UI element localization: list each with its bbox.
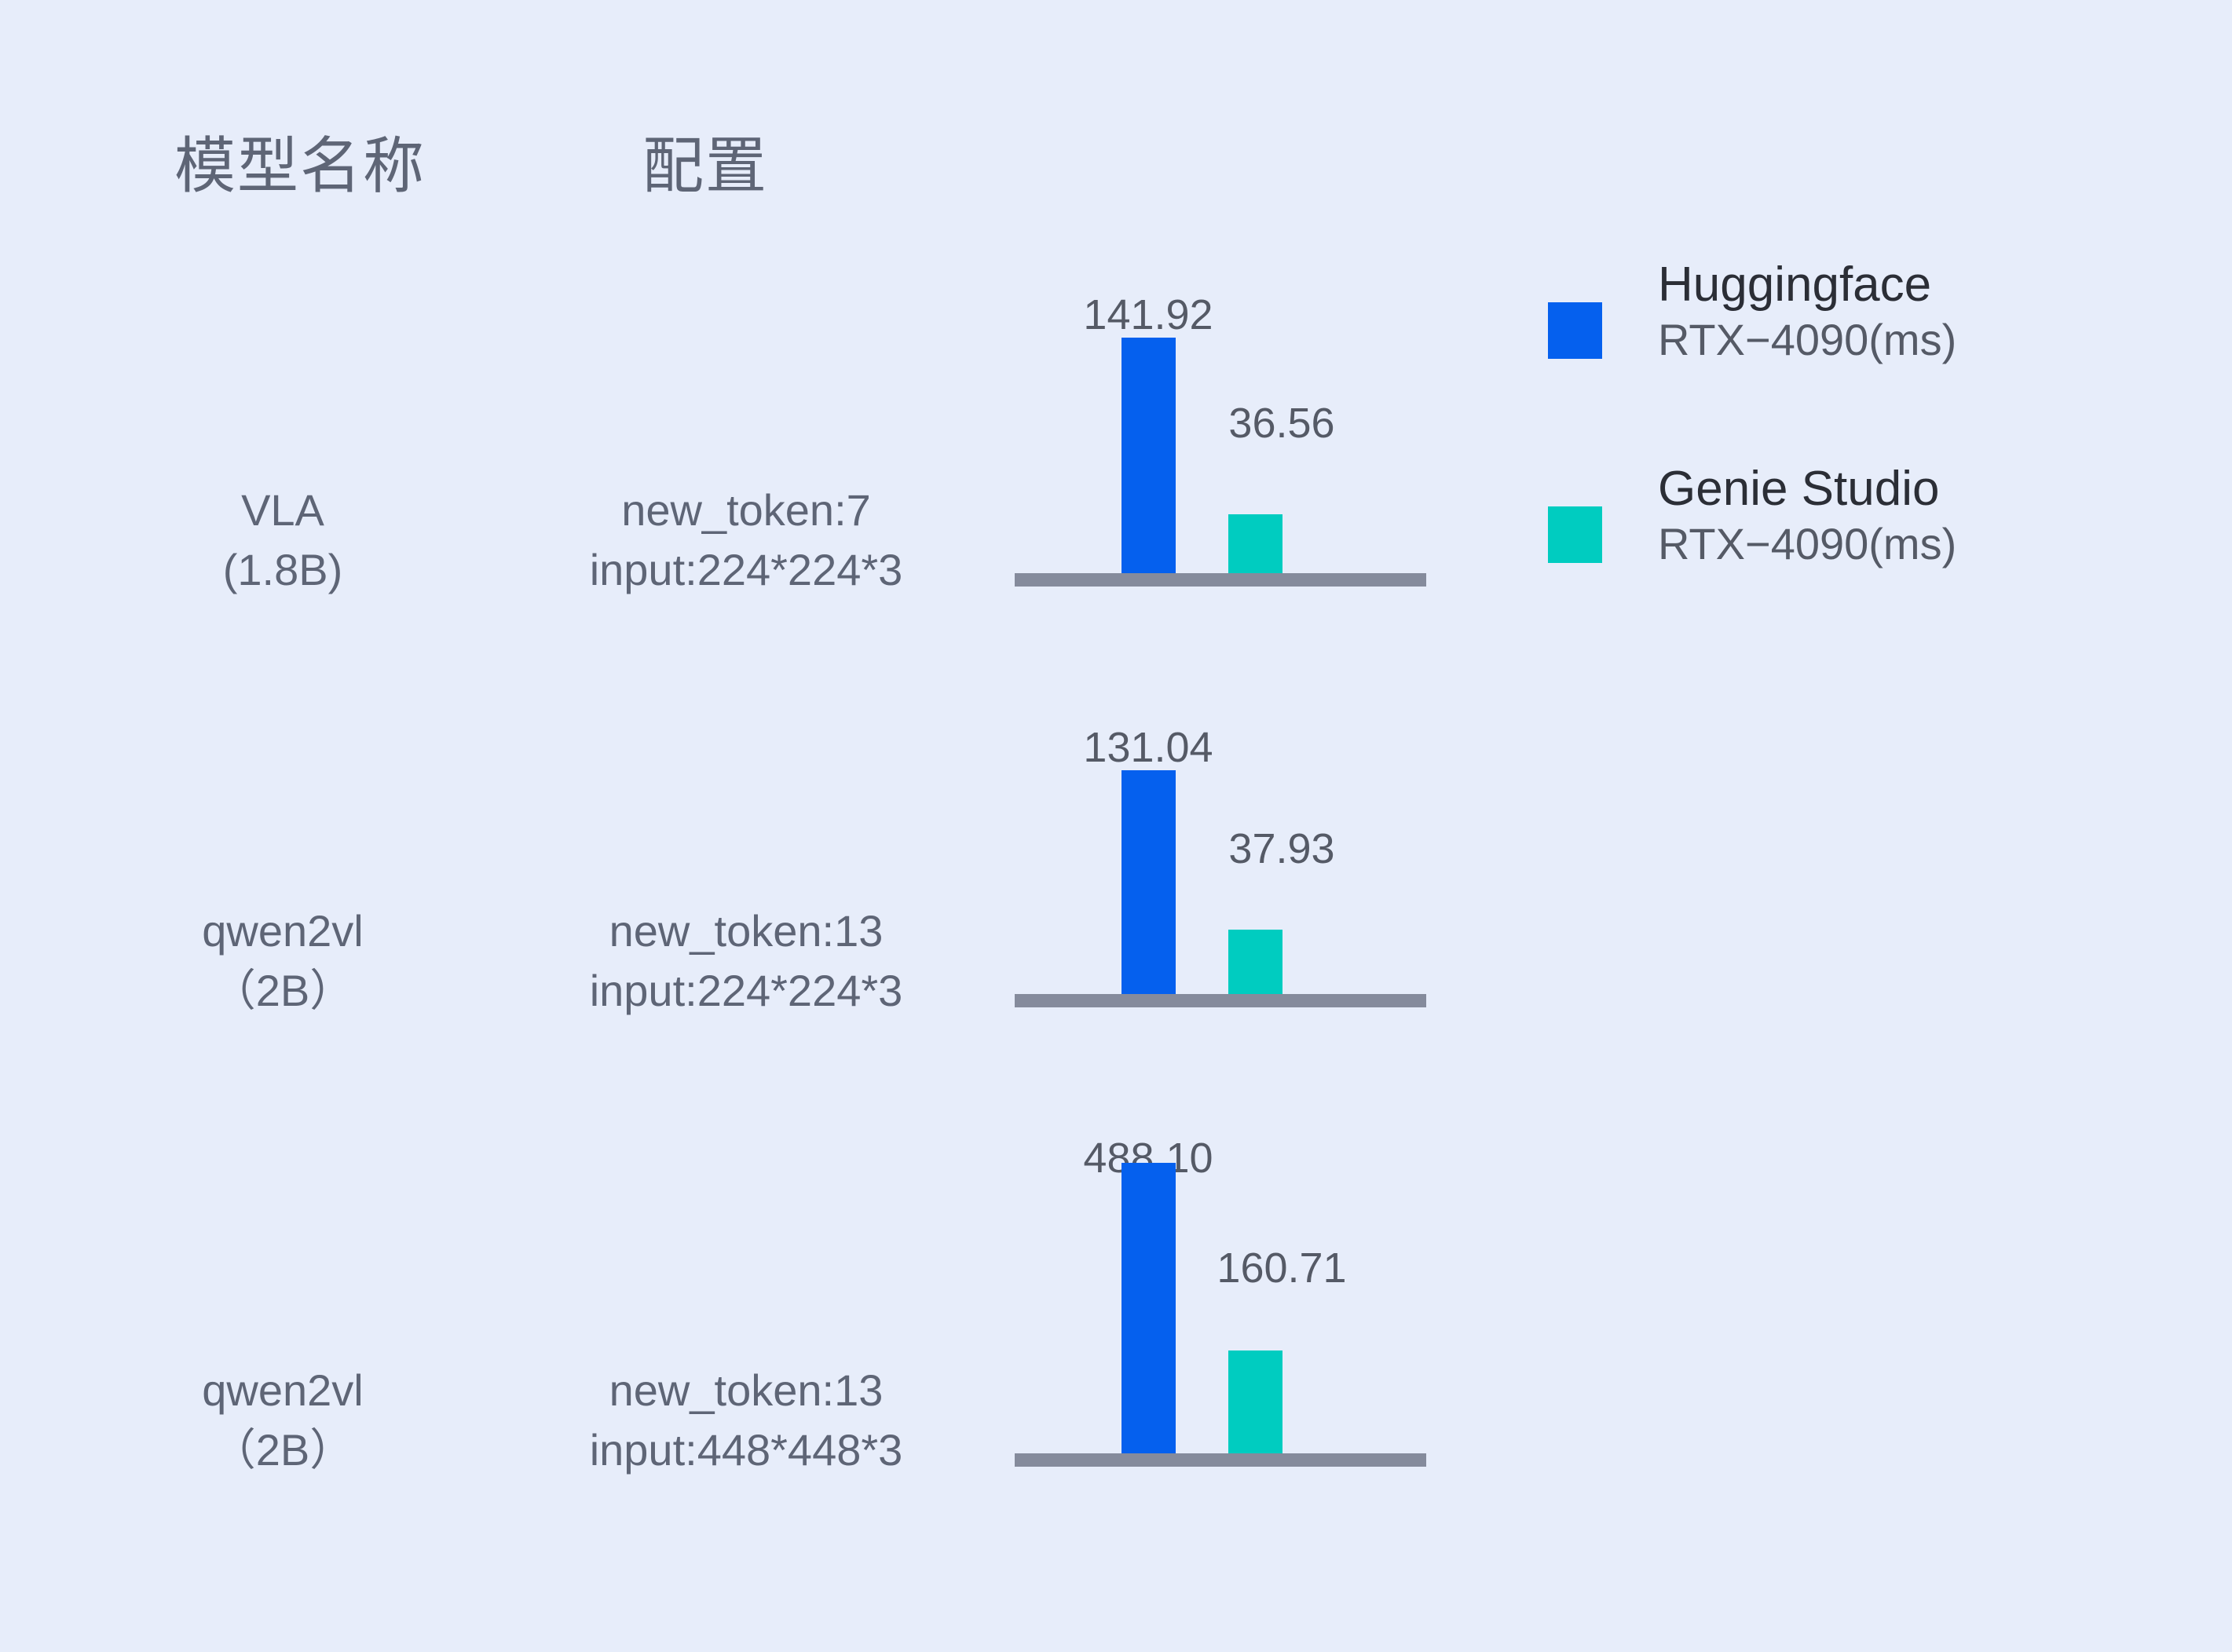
bar-value-label-huggingface: 141.92 <box>1083 294 1213 336</box>
model-params-line: （2B） <box>126 1420 440 1480</box>
legend-swatch-genie-studio <box>1548 506 1602 563</box>
bar-genie-studio[interactable] <box>1228 930 1282 994</box>
bar-panel: 141.92 36.56 <box>1015 257 1426 587</box>
model-name-line: VLA <box>126 481 440 540</box>
row-model-label: qwen2vl （2B） <box>126 901 440 1021</box>
bar-panel: 131.04 37.93 <box>1015 678 1426 1007</box>
config-new-token-line: new_token:13 <box>471 1361 1021 1420</box>
legend-title: Genie Studio <box>1658 463 2161 516</box>
bar-genie-studio[interactable] <box>1228 1350 1282 1453</box>
row-config-label: new_token:13 input:224*224*3 <box>471 901 1021 1021</box>
config-input-line: input:448*448*3 <box>471 1420 1021 1480</box>
legend-item-genie-studio[interactable]: Genie Studio RTX−4090(ms) <box>1548 463 2176 605</box>
column-header-config: 配置 <box>642 135 768 196</box>
bar-value-label-genie-studio: 37.93 <box>1228 828 1334 870</box>
legend-title: Huggingface <box>1658 259 2161 312</box>
row-config-label: new_token:7 input:224*224*3 <box>471 481 1021 600</box>
column-header-model-name: 模型名称 <box>174 135 426 196</box>
config-new-token-line: new_token:13 <box>471 901 1021 961</box>
row-model-label: VLA (1.8B) <box>126 481 440 600</box>
legend-item-huggingface[interactable]: Huggingface RTX−4090(ms) <box>1548 259 2176 400</box>
bar-value-label-genie-studio: 160.71 <box>1217 1247 1346 1289</box>
legend-swatch-huggingface <box>1548 302 1602 359</box>
axis-baseline <box>1015 1453 1426 1467</box>
chart-canvas: 模型名称 配置 VLA (1.8B) new_token:7 input:224… <box>0 0 2232 1652</box>
model-name-line: qwen2vl <box>126 1361 440 1420</box>
bar-genie-studio[interactable] <box>1228 514 1282 573</box>
bar-panel: 488.10 160.71 <box>1015 1137 1426 1467</box>
axis-baseline <box>1015 994 1426 1007</box>
bar-value-label-genie-studio: 36.56 <box>1228 402 1334 444</box>
config-input-line: input:224*224*3 <box>471 540 1021 600</box>
legend-subtitle: RTX−4090(ms) <box>1658 312 2161 368</box>
row-model-label: qwen2vl （2B） <box>126 1361 440 1480</box>
legend-text-huggingface: Huggingface RTX−4090(ms) <box>1658 259 2161 368</box>
config-new-token-line: new_token:7 <box>471 481 1021 540</box>
bar-value-label-huggingface: 131.04 <box>1083 726 1213 769</box>
bar-huggingface[interactable] <box>1121 770 1176 994</box>
model-params-line: （2B） <box>126 961 440 1021</box>
bar-huggingface[interactable] <box>1121 338 1176 573</box>
axis-baseline <box>1015 573 1426 587</box>
model-name-line: qwen2vl <box>126 901 440 961</box>
legend-text-genie-studio: Genie Studio RTX−4090(ms) <box>1658 463 2161 572</box>
bar-huggingface[interactable] <box>1121 1163 1176 1458</box>
config-input-line: input:224*224*3 <box>471 961 1021 1021</box>
row-config-label: new_token:13 input:448*448*3 <box>471 1361 1021 1480</box>
model-params-line: (1.8B) <box>126 540 440 600</box>
legend-subtitle: RTX−4090(ms) <box>1658 516 2161 572</box>
